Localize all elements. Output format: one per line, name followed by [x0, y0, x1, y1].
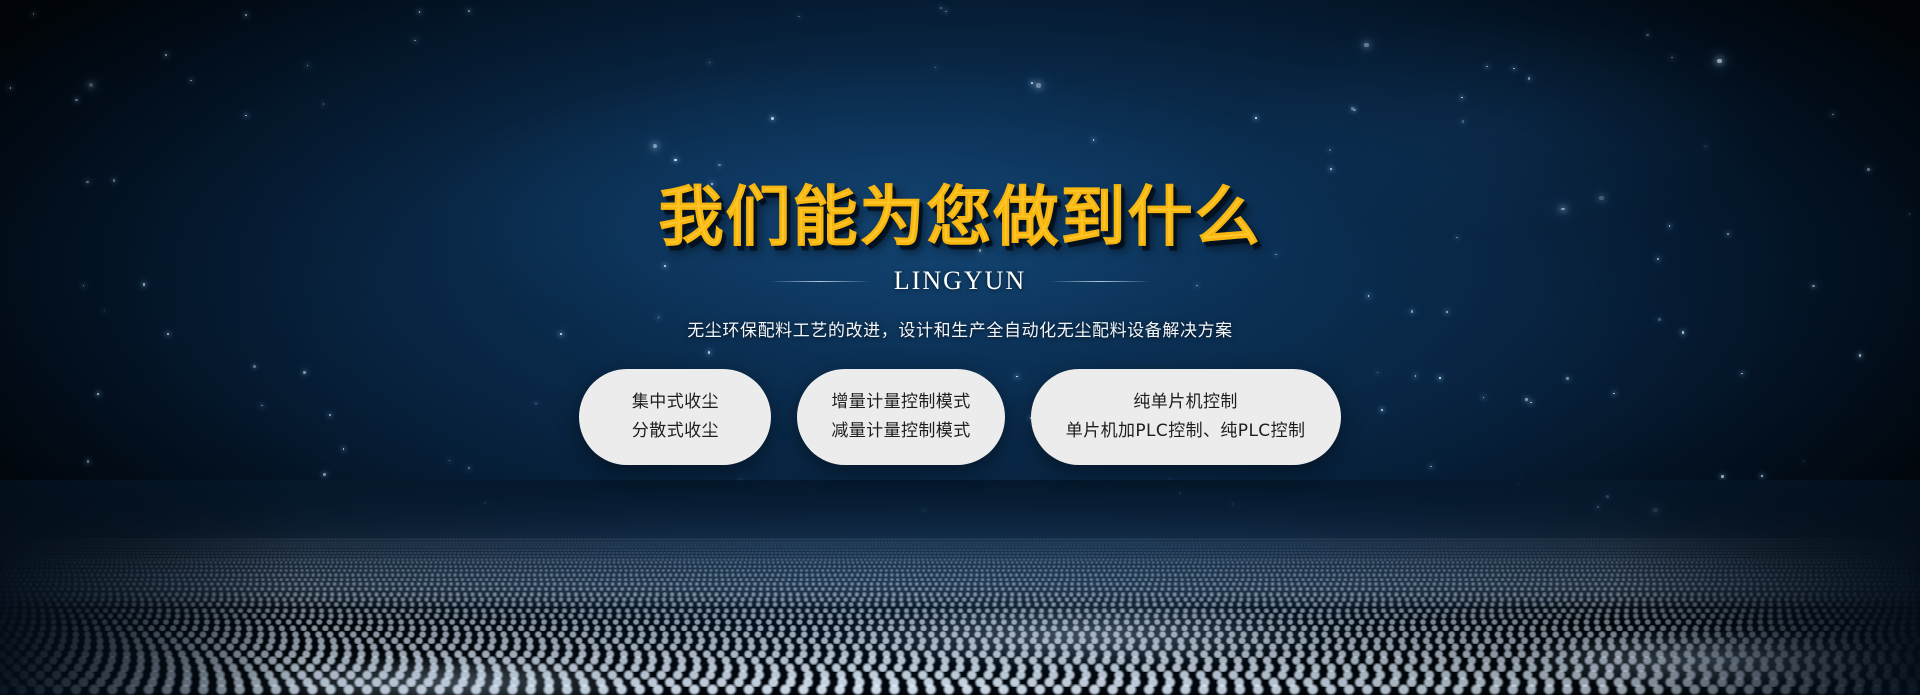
- brand-name: LINGYUN: [894, 266, 1026, 296]
- page-title: 我们能为您做到什么: [658, 185, 1261, 250]
- feature-pill-control-system[interactable]: 纯单片机控制 单片机加PLC控制、纯PLC控制: [1031, 369, 1341, 465]
- divider-left: [772, 281, 868, 282]
- pill-line-2: 减量计量控制模式: [831, 422, 970, 442]
- pill-line-2: 单片机加PLC控制、纯PLC控制: [1066, 422, 1306, 442]
- hero-content: 我们能为您做到什么 LINGYUN 无尘环保配料工艺的改进，设计和生产全自动化无…: [0, 0, 1920, 695]
- feature-pill-list: 集中式收尘 分散式收尘 增量计量控制模式 减量计量控制模式 纯单片机控制 单片机…: [579, 369, 1340, 465]
- divider-right: [1052, 281, 1148, 282]
- pill-line-1: 集中式收尘: [632, 393, 719, 413]
- pill-line-1: 纯单片机控制: [1133, 393, 1237, 413]
- hero-banner: 我们能为您做到什么 LINGYUN 无尘环保配料工艺的改进，设计和生产全自动化无…: [0, 0, 1920, 695]
- pill-line-2: 分散式收尘: [632, 422, 719, 442]
- feature-pill-metering-mode[interactable]: 增量计量控制模式 减量计量控制模式: [797, 369, 1004, 465]
- feature-pill-dust-collection[interactable]: 集中式收尘 分散式收尘: [579, 369, 771, 465]
- pill-line-1: 增量计量控制模式: [831, 393, 970, 413]
- hero-description: 无尘环保配料工艺的改进，设计和生产全自动化无尘配料设备解决方案: [687, 316, 1233, 341]
- brand-row: LINGYUN: [772, 266, 1148, 296]
